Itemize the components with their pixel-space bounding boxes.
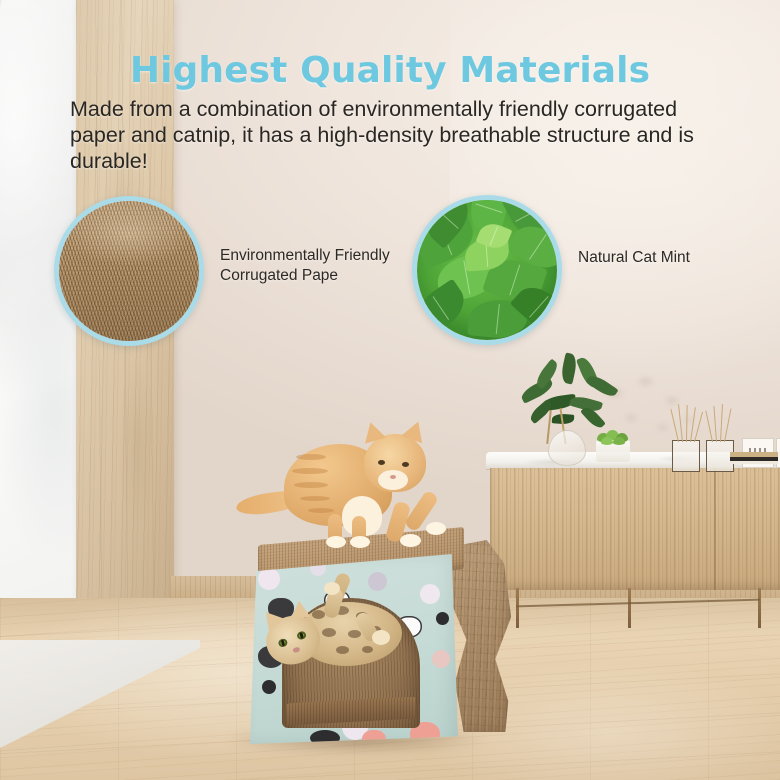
cat-scratcher-lounge [246, 528, 498, 750]
product-feature-banner: Highest Quality Materials Made from a co… [0, 0, 780, 780]
sideboard-door-seam [714, 468, 716, 590]
catnip-leaves-photo [412, 195, 562, 345]
sideboard-leg [758, 588, 761, 628]
cartoon-cat-face [362, 730, 386, 750]
cat-eye [378, 460, 385, 465]
succulent-planter [596, 440, 630, 462]
corrugated-honeycomb-texture [54, 196, 204, 346]
cat-paw [350, 536, 370, 548]
cat-nose [292, 647, 300, 654]
cat-paw [372, 630, 390, 645]
reed-diffuser [672, 440, 700, 472]
cat-paw [326, 536, 346, 548]
corrugated-paper-texture-photo [54, 196, 204, 346]
sideboard-leg [516, 588, 519, 628]
fluted-oak-sideboard [486, 452, 780, 628]
page-title: Highest Quality Materials [0, 50, 780, 91]
callout-label-corrugated-paper: Environmentally Friendly Corrugated Pape [220, 246, 395, 285]
glass-vase [548, 430, 586, 466]
cat-eye [296, 630, 307, 640]
callout-label-cat-mint: Natural Cat Mint [578, 248, 758, 268]
cat-eye [402, 462, 409, 467]
cat-paw [400, 534, 421, 547]
orange-tabby-cat-on-top [278, 418, 444, 550]
book-stack [730, 452, 778, 464]
sideboard-fluted-body [490, 468, 780, 590]
sideboard-leg [628, 588, 631, 628]
page-subtitle: Made from a combination of environmental… [70, 96, 726, 174]
cat-eye [277, 638, 288, 648]
glass-vase-plant [518, 362, 622, 440]
cat-muzzle [378, 470, 408, 490]
cat-paw [426, 522, 446, 535]
cat-nose [390, 475, 396, 479]
cat-paw [324, 582, 340, 595]
catnip-leaf-cluster [412, 195, 562, 345]
bengal-tabby-cat-inside [264, 594, 416, 686]
sideboard-cross-rail [516, 599, 760, 608]
sideboard-legs [508, 588, 770, 628]
